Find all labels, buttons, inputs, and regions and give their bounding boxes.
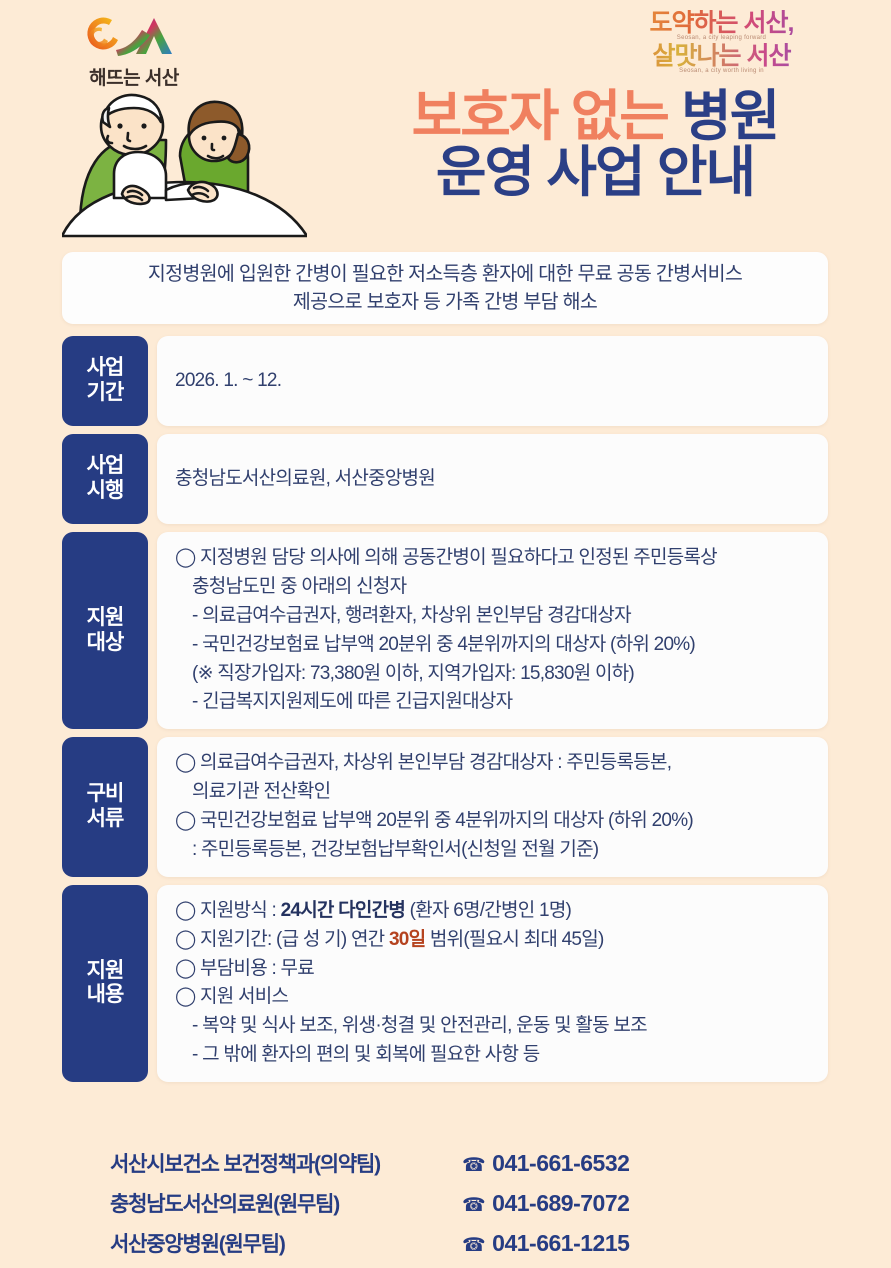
body-required-documents: ◯ 의료급여수급권자, 차상위 본인부담 경감대상자 : 주민등록등본, 의료기… (157, 737, 828, 877)
body-business-operator: 충청남도서산의료원, 서산중앙병원 (157, 434, 828, 524)
telephone-icon: ☎ (462, 1195, 485, 1216)
content-line-6: - 그 밖에 환자의 편의 및 회복에 필요한 사항 등 (175, 1041, 812, 1070)
contact-telephone: ☎041-661-6532 (462, 1150, 629, 1177)
content-line-4: ◯ 지원 서비스 (175, 983, 812, 1012)
target-line-6: - 긴급복지지원제도에 따른 긴급지원대상자 (175, 688, 812, 717)
body-support-target: ◯ 지정병원 담당 의사에 의해 공동간병이 필요하다고 인정된 주민등록상 충… (157, 532, 828, 729)
page-title: 보호자 없는 병원 운영 사업 안내 (330, 88, 860, 200)
content-line-2: ◯ 지원기간: (급 성 기) 연간 30일 범위(필요시 최대 45일) (175, 926, 812, 955)
body-support-content: ◯ 지원방식 : 24시간 다인간병 (환자 6명/간병인 1명) ◯ 지원기간… (157, 885, 828, 1082)
label-required-documents: 구비 서류 (62, 737, 148, 877)
label-line-1: 지원 (87, 959, 124, 984)
label-business-period: 사업 기간 (62, 336, 148, 426)
content-line-2-post: 범위(필요시 최대 45일) (425, 929, 603, 950)
contact-row: 충청남도서산의료원(원무팀) ☎041-689-7072 (62, 1188, 828, 1218)
contact-name: 충청남도서산의료원(원무팀) (62, 1188, 462, 1218)
label-support-target: 지원 대상 (62, 532, 148, 729)
slogan-line-1: 도약하는 서산, (614, 10, 829, 37)
label-line-2: 대상 (87, 631, 124, 656)
contact-name: 서산중앙병원(원무팀) (62, 1228, 462, 1258)
target-line-2: 충청남도민 중 아래의 신청자 (175, 573, 812, 602)
documents-line-3: ◯ 국민건강보험료 납부액 20분위 중 4분위까지의 대상자 (하위 20%) (175, 807, 812, 836)
business-period-value: 2026. 1. ~ 12. (175, 367, 812, 396)
city-slogan: 도약하는 서산, Seosan, a city leaping forward … (614, 10, 829, 75)
content-line-1-post: (환자 6명/간병인 1명) (405, 900, 571, 921)
subtitle-line-2: 제공으로 보호자 등 가족 간병 부담 해소 (293, 291, 597, 313)
target-line-4: - 국민건강보험료 납부액 20분위 중 4분위까지의 대상자 (하위 20%) (175, 631, 812, 660)
title-line-2: 운영 사업 안내 (330, 144, 860, 200)
contact-telephone: ☎041-689-7072 (462, 1190, 629, 1217)
documents-line-1: ◯ 의료급여수급권자, 차상위 본인부담 경감대상자 : 주민등록등본, (175, 749, 812, 778)
title-line-1: 보호자 없는 병원 (330, 88, 860, 144)
telephone-icon: ☎ (462, 1155, 485, 1176)
content-line-3: ◯ 부담비용 : 무료 (175, 955, 812, 984)
slogan-line-2: 살맛나는 서산 (614, 43, 829, 70)
target-line-3: - 의료급여수급권자, 행려환자, 차상위 본인부담 경감대상자 (175, 602, 812, 631)
row-support-content: 지원 내용 ◯ 지원방식 : 24시간 다인간병 (환자 6명/간병인 1명) … (62, 885, 828, 1082)
row-required-documents: 구비 서류 ◯ 의료급여수급권자, 차상위 본인부담 경감대상자 : 주민등록등… (62, 737, 828, 877)
contact-row: 서산시보건소 보건정책과(의약팀) ☎041-661-6532 (62, 1148, 828, 1178)
patient-and-caregiver-illustration (62, 78, 307, 238)
content-line-1-pre: ◯ 지원방식 : (175, 900, 281, 921)
slogan-sub-2: Seosan, a city worth living in (614, 68, 829, 74)
content-line-1: ◯ 지원방식 : 24시간 다인간병 (환자 6명/간병인 1명) (175, 897, 812, 926)
target-line-5: (※ 직장가입자: 73,380원 이하, 지역가입자: 15,830원 이하) (175, 660, 812, 689)
documents-line-4: : 주민등록등본, 건강보험납부확인서(신청일 전월 기준) (175, 836, 812, 865)
contact-telephone-number: 041-689-7072 (492, 1190, 629, 1216)
contact-telephone-number: 041-661-6532 (492, 1150, 629, 1176)
slogan-sub-1: Seosan, a city leaping forward (614, 35, 829, 41)
content-line-5: - 복약 및 식사 보조, 위생·청결 및 안전관리, 운동 및 활동 보조 (175, 1012, 812, 1041)
poster-header: 해뜨는 서산 도약하는 서산, Seosan, a city leaping f… (0, 0, 891, 240)
row-business-operator: 사업 시행 충청남도서산의료원, 서산중앙병원 (62, 434, 828, 524)
label-support-content: 지원 내용 (62, 885, 148, 1082)
seosan-city-logo-icon (78, 8, 190, 60)
subtitle-line-1: 지정병원에 입원한 간병이 필요한 저소득층 환자에 대한 무료 공동 간병서비… (148, 263, 742, 285)
label-line-1: 사업 (87, 454, 124, 479)
content-line-1-bold: 24시간 다인간병 (281, 900, 406, 921)
content-line-2-pre: ◯ 지원기간: (급 성 기) 연간 (175, 929, 389, 950)
contact-footer: 서산시보건소 보건정책과(의약팀) ☎041-661-6532 충청남도서산의료… (62, 1148, 828, 1268)
title-navy-part: 병원 (681, 85, 778, 147)
label-line-2: 시행 (87, 479, 124, 504)
label-business-operator: 사업 시행 (62, 434, 148, 524)
contact-telephone: ☎041-661-1215 (462, 1230, 629, 1257)
row-support-target: 지원 대상 ◯ 지정병원 담당 의사에 의해 공동간병이 필요하다고 인정된 주… (62, 532, 828, 729)
info-rows: 사업 기간 2026. 1. ~ 12. 사업 시행 충청남도서산의료원, 서산… (62, 336, 828, 1090)
label-line-2: 서류 (87, 807, 124, 832)
telephone-icon: ☎ (462, 1235, 485, 1256)
subtitle-box: 지정병원에 입원한 간병이 필요한 저소득층 환자에 대한 무료 공동 간병서비… (62, 252, 828, 324)
label-line-1: 지원 (87, 606, 124, 631)
contact-telephone-number: 041-661-1215 (492, 1230, 629, 1256)
label-line-2: 기간 (87, 381, 124, 406)
label-line-1: 구비 (87, 782, 124, 807)
row-business-period: 사업 기간 2026. 1. ~ 12. (62, 336, 828, 426)
business-operator-value: 충청남도서산의료원, 서산중앙병원 (175, 465, 812, 494)
label-line-1: 사업 (87, 356, 124, 381)
contact-row: 서산중앙병원(원무팀) ☎041-661-1215 (62, 1228, 828, 1258)
content-line-2-highlight: 30일 (389, 929, 425, 950)
title-orange-part: 보호자 없는 (412, 85, 668, 147)
label-line-2: 내용 (87, 983, 124, 1008)
target-line-1: ◯ 지정병원 담당 의사에 의해 공동간병이 필요하다고 인정된 주민등록상 (175, 544, 812, 573)
contact-name: 서산시보건소 보건정책과(의약팀) (62, 1148, 462, 1178)
documents-line-2: 의료기관 전산확인 (175, 778, 812, 807)
body-business-period: 2026. 1. ~ 12. (157, 336, 828, 426)
